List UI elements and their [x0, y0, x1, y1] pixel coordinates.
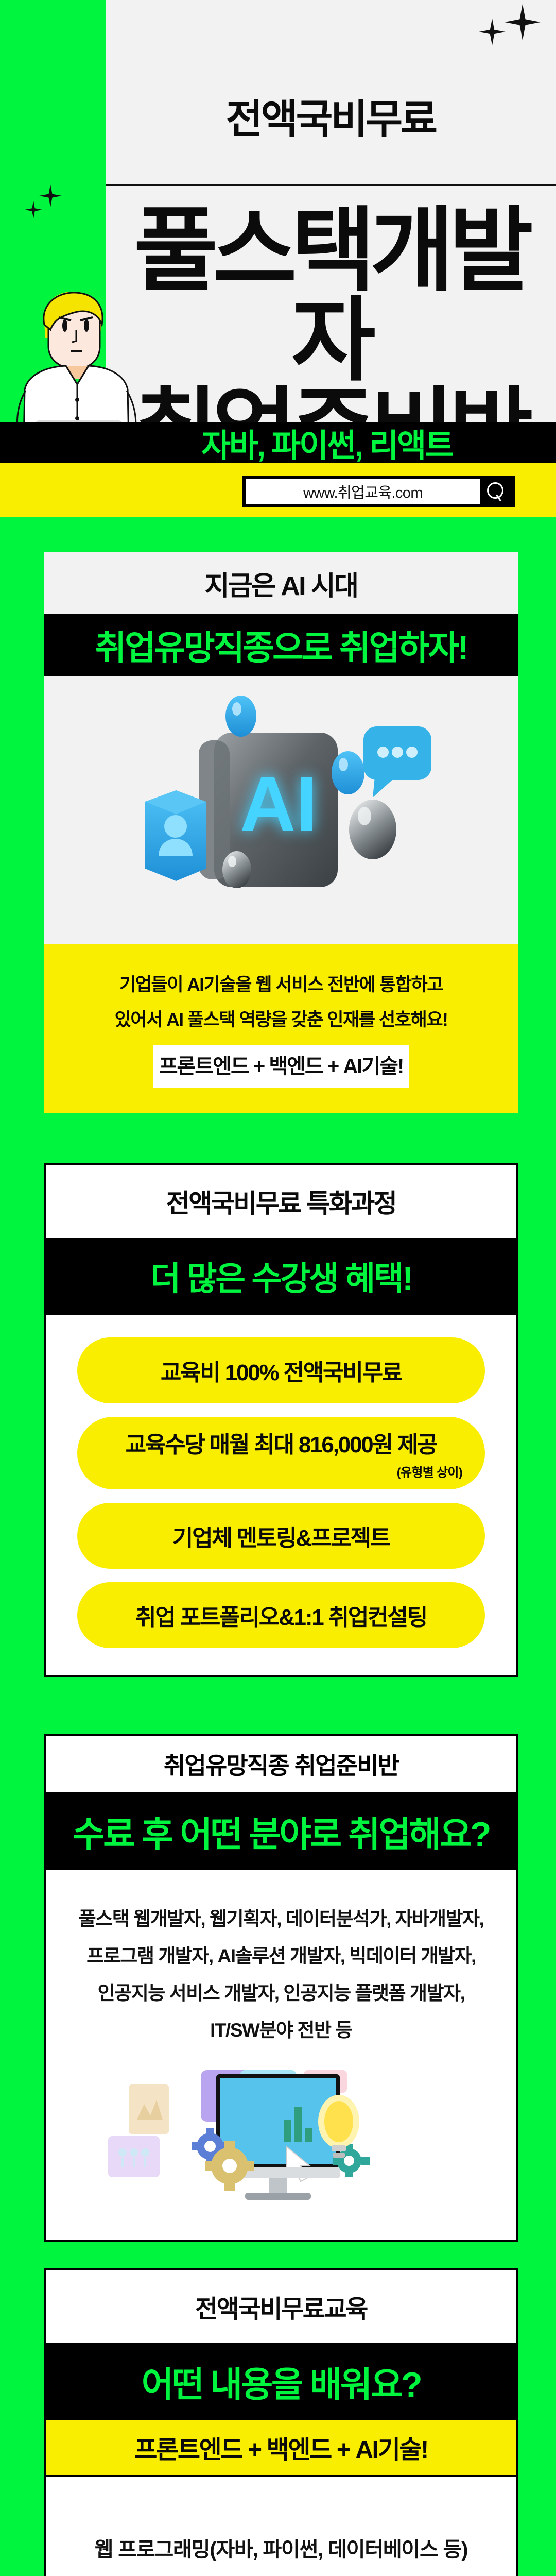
ai-body-line2: 있어서 AI 풀스택 역량을 갖춘 인재를 선호해요!: [60, 1003, 502, 1038]
ai-body-text: 기업들이 AI기술을 웹 서비스 전반에 통합하고 있어서 AI 풀스택 역량을…: [44, 944, 518, 1113]
ai-highlight: 프론트엔드 + 백엔드 + AI기술!: [153, 1045, 410, 1088]
fields-kicker: 취업유망직종 취업준비반: [46, 1736, 516, 1792]
fields-headline: 수료 후 어떤 분야로 취업해요?: [46, 1792, 516, 1870]
benefit-item: 교육비 100% 전액국비무료: [77, 1337, 485, 1403]
hero-section: 전액국비무료 풀스택개발자 취업준비반: [0, 0, 556, 517]
ai-body-line1: 기업들이 AI기술을 웹 서비스 전반에 통합하고: [60, 968, 502, 1003]
benefit-item-label: 교육비 100% 전액국비무료: [161, 1354, 402, 1387]
search-icon[interactable]: [480, 479, 511, 504]
fields-illustration: [46, 2070, 516, 2240]
ai-headline: 취업유망직종으로 취업하자!: [44, 614, 518, 676]
fields-line2: 프로그램 개발자, AI솔루션 개발자, 빅데이터 개발자,: [65, 1938, 497, 1975]
benefit-item-label: 교육수당 매월 최대 816,000원 제공: [126, 1426, 437, 1459]
search-input[interactable]: www.취업교육.com: [246, 479, 480, 504]
hero-kicker: 전액국비무료: [106, 67, 556, 165]
sparkle-decor-top: [463, 4, 556, 66]
fields-line4: IT/SW분야 전반 등: [65, 2012, 497, 2049]
curriculum-section: 전액국비무료교육 어떤 내용을 배워요? 프론트엔드 + 백엔드 + AI기술!…: [44, 2268, 518, 2576]
fields-section: 취업유망직종 취업준비반 수료 후 어떤 분야로 취업해요? 풀스택 웹개발자,…: [44, 1734, 518, 2242]
benefit-item: 취업 포트폴리오&1:1 취업컨설팅: [77, 1582, 485, 1648]
ai-section: 지금은 AI 시대 취업유망직종으로 취업하자!: [44, 552, 518, 1113]
benefit-item-note: (유형별 상이): [397, 1462, 462, 1480]
hero-tech-bar: 자바, 파이썬, 리액트: [0, 422, 556, 463]
fields-line1: 풀스택 웹개발자, 웹기획자, 데이터분석가, 자바개발자,: [65, 1901, 497, 1938]
sparkle-decor-left: [25, 184, 81, 241]
curriculum-kicker: 전액국비무료교육: [46, 2270, 516, 2343]
benefit-item-label: 취업 포트폴리오&1:1 취업컨설팅: [135, 1599, 427, 1632]
hero-title-line1: 풀스택개발자: [106, 206, 556, 386]
benefit-list: 교육비 100% 전액국비무료 교육수당 매월 최대 816,000원 제공 (…: [46, 1315, 516, 1675]
curriculum-subbar: 프론트엔드 + 백엔드 + AI기술!: [46, 2420, 516, 2477]
benefit-item: 교육수당 매월 최대 816,000원 제공 (유형별 상이): [77, 1417, 485, 1489]
curriculum-headline: 어떤 내용을 배워요?: [46, 2343, 516, 2420]
svg-text:AI: AI: [240, 760, 317, 847]
ai-illustration: AI: [44, 676, 518, 944]
landing-page: 전액국비무료 풀스택개발자 취업준비반: [0, 0, 556, 2576]
benefit-item-label: 기업체 멘토링&프로젝트: [172, 1519, 390, 1552]
curriculum-item: 웹 프로그래밍(자바, 파이썬, 데이터베이스 등): [62, 2518, 500, 2576]
ai-kicker: 지금은 AI 시대: [44, 552, 518, 614]
benefit-headline: 더 많은 수강생 혜택!: [46, 1238, 516, 1315]
fields-body: 풀스택 웹개발자, 웹기획자, 데이터분석가, 자바개발자, 프로그램 개발자,…: [46, 1870, 516, 2070]
search-bar[interactable]: www.취업교육.com: [242, 476, 515, 507]
benefit-kicker: 전액국비무료 특화과정: [46, 1165, 516, 1238]
benefit-item: 기업체 멘토링&프로젝트: [77, 1503, 485, 1569]
fields-line3: 인공지능 서비스 개발자, 인공지능 플랫폼 개발자,: [65, 1975, 497, 2012]
curriculum-list: 웹 프로그래밍(자바, 파이썬, 데이터베이스 등) 빅데이터 통계 분석 머신…: [46, 2477, 516, 2576]
hero-divider: [106, 184, 556, 186]
benefit-section: 전액국비무료 특화과정 더 많은 수강생 혜택! 교육비 100% 전액국비무료…: [44, 1163, 518, 1677]
